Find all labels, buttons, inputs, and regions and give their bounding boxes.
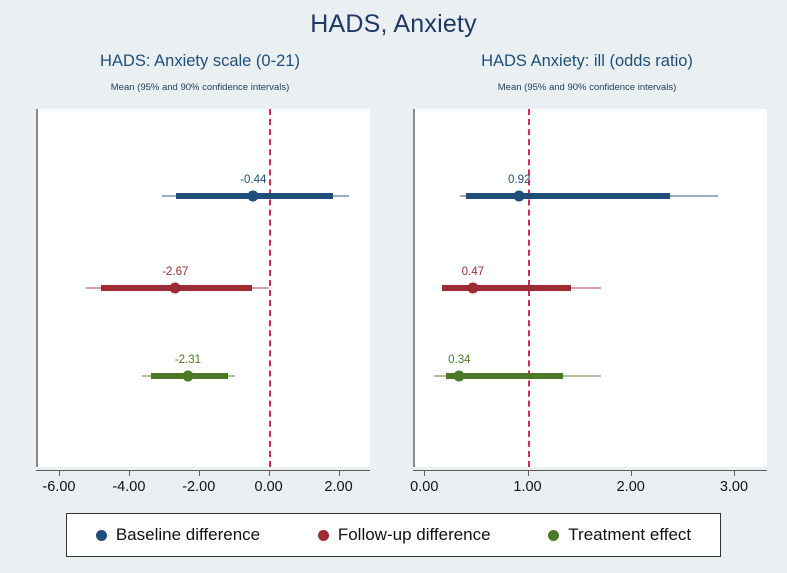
- x-axis-tick-label: -6.00: [42, 479, 75, 495]
- legend-label: Follow-up difference: [338, 525, 491, 545]
- ci90-bar: [466, 193, 670, 199]
- ci90-bar: [442, 285, 571, 291]
- panel-title-right: HADS Anxiety: ill (odds ratio): [407, 52, 767, 71]
- x-axis-tick-label: -4.00: [112, 479, 145, 495]
- y-axis-spine: [36, 109, 38, 467]
- panel-title-left: HADS: Anxiety scale (0-21): [20, 52, 380, 71]
- estimate-label: -0.44: [240, 174, 266, 186]
- page-title: HADS, Anxiety: [0, 10, 787, 39]
- x-axis-tick: [269, 471, 270, 476]
- x-axis-tick-label: 2.00: [324, 479, 352, 495]
- estimate-point: [182, 371, 193, 382]
- legend-dot-icon: [318, 530, 329, 541]
- legend-item-2[interactable]: Follow-up difference: [318, 525, 491, 545]
- legend-dot-icon: [96, 530, 107, 541]
- estimate-point: [170, 283, 181, 294]
- legend-dot-icon: [548, 530, 559, 541]
- estimate-label: 0.47: [462, 266, 484, 278]
- x-axis-tick-label: 0.00: [255, 479, 283, 495]
- chart-root: HADS, Anxiety HADS: Anxiety scale (0-21)…: [0, 0, 787, 573]
- estimate-point: [248, 191, 259, 202]
- y-axis-spine: [413, 109, 415, 467]
- x-axis-line: [36, 470, 370, 471]
- x-axis-tick-label: 1.00: [513, 479, 541, 495]
- x-axis-tick: [199, 471, 200, 476]
- estimate-label: 0.34: [448, 354, 470, 366]
- x-axis-tick-label: 3.00: [720, 479, 748, 495]
- estimate-point: [467, 283, 478, 294]
- estimate-point: [454, 371, 465, 382]
- x-axis-tick: [734, 471, 735, 476]
- legend-item-1[interactable]: Baseline difference: [96, 525, 260, 545]
- x-axis-tick-label: 0.00: [410, 479, 438, 495]
- panel-subtitle-left: Mean (95% and 90% confidence intervals): [20, 82, 380, 93]
- x-axis-tick-label: -2.00: [182, 479, 215, 495]
- x-axis-tick-label: 2.00: [617, 479, 645, 495]
- x-axis-tick: [631, 471, 632, 476]
- estimate-label: -2.31: [175, 354, 201, 366]
- chart-legend: Baseline differenceFollow-up differenceT…: [66, 513, 721, 557]
- legend-label: Baseline difference: [116, 525, 260, 545]
- panel-subtitle-right: Mean (95% and 90% confidence intervals): [407, 82, 767, 93]
- estimate-label: 0.92: [508, 174, 530, 186]
- x-axis-tick: [424, 471, 425, 476]
- x-axis-tick: [528, 471, 529, 476]
- legend-label: Treatment effect: [568, 525, 691, 545]
- x-axis-tick: [339, 471, 340, 476]
- x-axis-line: [413, 470, 767, 471]
- legend-item-3[interactable]: Treatment effect: [548, 525, 691, 545]
- estimate-label: -2.67: [162, 266, 188, 278]
- estimate-point: [514, 191, 525, 202]
- reference-line: [269, 109, 271, 467]
- x-axis-tick: [129, 471, 130, 476]
- x-axis-tick: [59, 471, 60, 476]
